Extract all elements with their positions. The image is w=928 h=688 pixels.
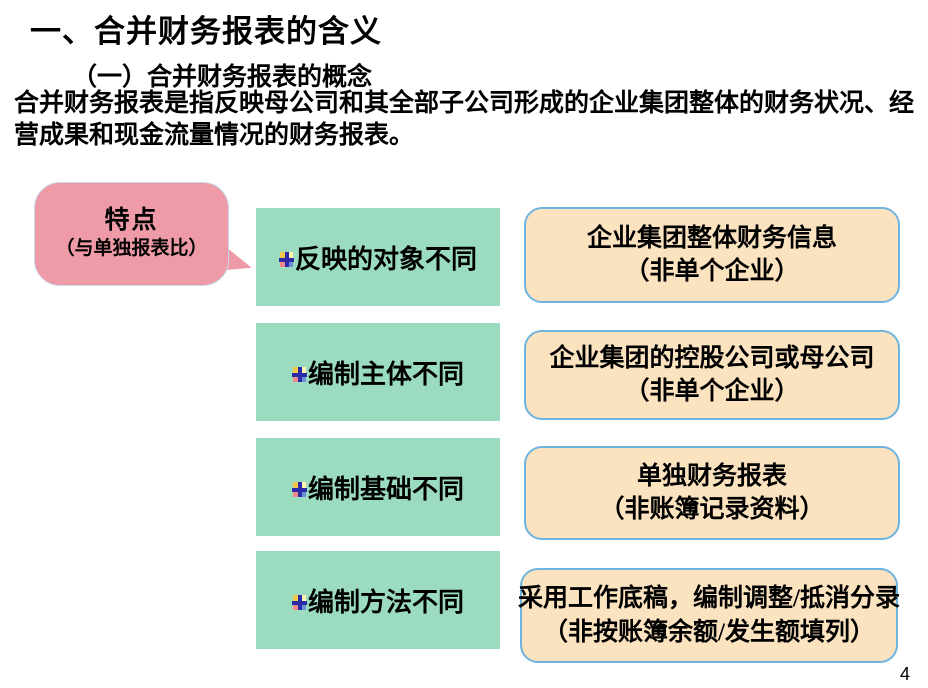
multicolor-square-bullet-icon bbox=[292, 482, 307, 497]
feature-box: 编制方法不同 bbox=[256, 551, 500, 649]
detail-line-primary: 单独财务报表 bbox=[637, 460, 787, 493]
multicolor-square-bullet-icon bbox=[279, 252, 294, 267]
feature-label: 编制方法不同 bbox=[308, 582, 464, 619]
feature-box-content: 反映的对象不同 bbox=[279, 239, 477, 276]
callout-subtitle: （与单独报表比） bbox=[55, 236, 207, 262]
feature-label: 编制主体不同 bbox=[308, 354, 464, 391]
slide-canvas: 一、合并财务报表的含义 （一）合并财务报表的概念 合并财务报表是指反映母公司和其… bbox=[0, 0, 928, 688]
callout-title: 特点 bbox=[104, 206, 158, 236]
detail-box: 企业集团的控股公司或母公司 （非单个企业） bbox=[524, 330, 900, 420]
detail-box: 企业集团整体财务信息 （非单个企业） bbox=[524, 207, 900, 303]
detail-line-primary: 企业集团的控股公司或母公司 bbox=[549, 342, 874, 375]
feature-callout: 特点 （与单独报表比） bbox=[34, 182, 229, 286]
feature-box-content: 编制基础不同 bbox=[292, 469, 464, 506]
detail-line-secondary: （非账簿记录资料） bbox=[599, 493, 824, 526]
detail-box: 采用工作底稿，编制调整/抵消分录 （非按账簿余额/发生额填列） bbox=[520, 568, 898, 663]
multicolor-square-bullet-icon bbox=[292, 595, 307, 610]
detail-line-secondary: （非按账簿余额/发生额填列） bbox=[543, 616, 875, 650]
feature-box-content: 编制主体不同 bbox=[292, 354, 464, 391]
detail-line-primary: 企业集团整体财务信息 bbox=[587, 222, 837, 255]
page-title: 一、合并财务报表的含义 bbox=[30, 6, 382, 51]
feature-box: 编制主体不同 bbox=[256, 323, 500, 421]
page-number: 4 bbox=[900, 664, 910, 685]
feature-box: 编制基础不同 bbox=[256, 438, 500, 536]
multicolor-square-bullet-icon bbox=[292, 367, 307, 382]
detail-box: 单独财务报表 （非账簿记录资料） bbox=[524, 446, 900, 540]
feature-box: 反映的对象不同 bbox=[256, 208, 500, 306]
feature-box-content: 编制方法不同 bbox=[292, 582, 464, 619]
detail-line-primary: 采用工作底稿，编制调整/抵消分录 bbox=[518, 582, 900, 616]
detail-line-secondary: （非单个企业） bbox=[624, 255, 799, 288]
detail-line-secondary: （非单个企业） bbox=[624, 375, 799, 408]
feature-label: 编制基础不同 bbox=[308, 469, 464, 506]
definition-paragraph: 合并财务报表是指反映母公司和其全部子公司形成的企业集团整体的财务状况、经营成果和… bbox=[14, 88, 914, 152]
feature-label: 反映的对象不同 bbox=[295, 239, 477, 276]
